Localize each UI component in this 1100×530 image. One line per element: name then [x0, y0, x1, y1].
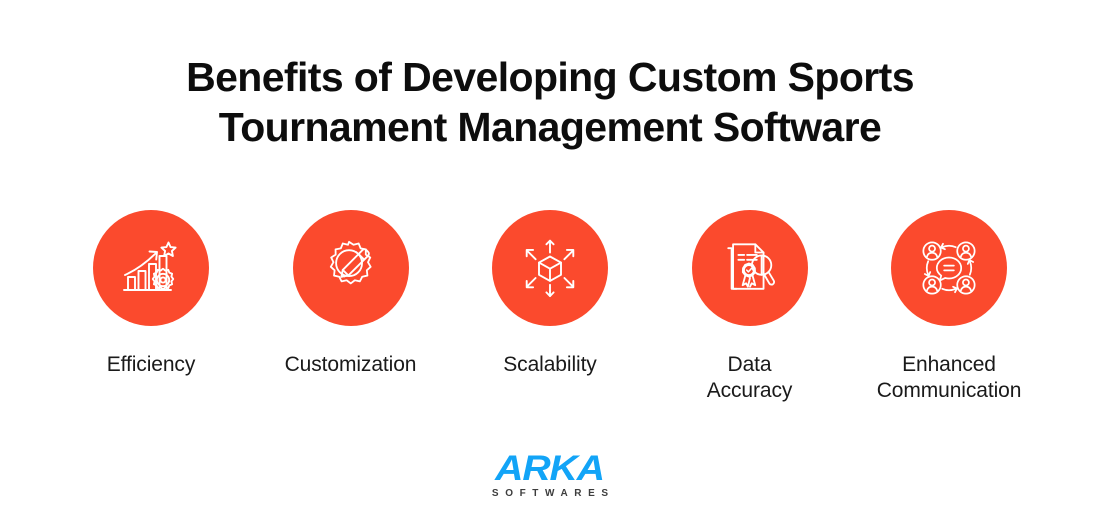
benefit-icon-circle-enhanced-communication: [891, 210, 1007, 326]
growth-chart-gear-star-icon: [120, 237, 182, 299]
benefit-label-line-1: Scalability: [503, 353, 596, 376]
benefit-label-data-accuracy: Data Accuracy: [655, 352, 845, 404]
benefit-label-line-2: Accuracy: [707, 379, 793, 402]
benefit-label-scalability: Scalability: [455, 352, 645, 378]
benefit-label-line-1: Enhanced: [902, 353, 996, 376]
benefit-label-line-1: Efficiency: [107, 353, 196, 376]
benefit-label-enhanced-communication: Enhanced Communication: [854, 352, 1044, 404]
certificate-magnifier-icon: [720, 238, 780, 298]
benefits-row: Efficiency: [56, 210, 1044, 404]
brand-logo-wordmark: ARKA: [496, 452, 605, 485]
benefit-item-customization: Customization: [256, 210, 446, 378]
team-chat-bubble-icon: [919, 238, 979, 298]
benefit-label-customization: Customization: [256, 352, 446, 378]
gear-pencil-icon: [321, 238, 381, 298]
benefit-item-efficiency: Efficiency: [56, 210, 246, 378]
benefit-label-efficiency: Efficiency: [56, 352, 246, 378]
benefit-item-scalability: Scalability: [455, 210, 645, 378]
benefit-icon-circle-data-accuracy: [692, 210, 808, 326]
page-title: Benefits of Developing Custom Sports Tou…: [0, 52, 1100, 152]
benefit-label-line-2: Communication: [877, 379, 1022, 402]
brand-logo-tagline: SOFTWARES: [485, 488, 614, 500]
benefit-item-enhanced-communication: Enhanced Communication: [854, 210, 1044, 404]
brand-logo: ARKA SOFTWARES: [0, 452, 1100, 500]
benefit-icon-circle-scalability: [492, 210, 608, 326]
benefit-label-line-1: Customization: [285, 353, 417, 376]
benefit-icon-circle-efficiency: [93, 210, 209, 326]
infographic-canvas: Benefits of Developing Custom Sports Tou…: [0, 0, 1100, 530]
benefit-label-line-1: Data: [728, 353, 772, 376]
cube-expand-arrows-icon: [519, 237, 581, 299]
benefit-icon-circle-customization: [293, 210, 409, 326]
page-title-line-2: Tournament Management Software: [0, 102, 1100, 152]
benefit-item-data-accuracy: Data Accuracy: [655, 210, 845, 404]
page-title-line-1: Benefits of Developing Custom Sports: [0, 52, 1100, 102]
